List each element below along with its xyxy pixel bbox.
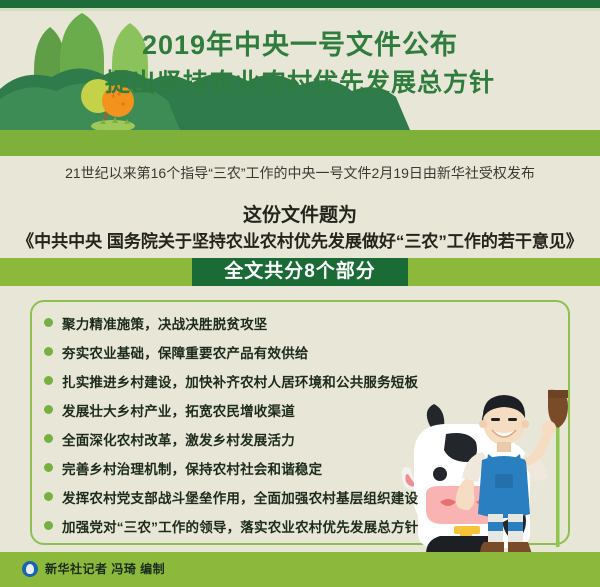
bullet-dot-icon [44,376,53,385]
bullet-dot-icon [44,463,53,472]
list-item-label: 完善乡村治理机制，保持农村社会和谐稳定 [62,458,322,478]
list-item-label: 发挥农村党支部战斗堡垒作用，全面加强农村基层组织建设 [62,487,418,507]
list-item: 扎实推进乡村建设，加快补齐农村人居环境和公共服务短板 [44,366,544,395]
page-title: 2019年中央一号文件公布 提出坚持农业农村优先发展总方针 [0,26,600,102]
bullet-dot-icon [44,492,53,501]
title-line-1: 2019年中央一号文件公布 [0,26,600,64]
list-item-label: 发展壮大乡村产业，拓宽农民增收渠道 [62,400,295,420]
subtitle-text: 21世纪以来第16个指导“三农”工作的中央一号文件2月19日由新华社受权发布 [0,163,600,183]
list-item-label: 扎实推进乡村建设，加快补齐农村人居环境和公共服务短板 [62,371,418,391]
header-green-band [0,130,600,156]
title-line-2: 提出坚持农业农村优先发展总方针 [0,64,600,102]
infographic-poster: 2019年中央一号文件公布 提出坚持农业农村优先发展总方针 21世纪以来第16个… [0,0,600,587]
list-item-label: 夯实农业基础，保障重要农产品有效供给 [62,342,309,362]
list-item: 夯实农业基础，保障重要农产品有效供给 [44,337,544,366]
bullet-dot-icon [44,347,53,356]
document-name: 《中共中央 国务院关于坚持农业农村优先发展做好“三农”工作的若干意见》 [0,229,600,255]
list-item: 发挥农村党支部战斗堡垒作用，全面加强农村基层组织建设 [44,482,544,511]
list-item-label: 聚力精准施策，决战决胜脱贫攻坚 [62,313,268,333]
bullet-list: 聚力精准施策，决战决胜脱贫攻坚 夯实农业基础，保障重要农产品有效供给 扎实推进乡… [44,308,544,540]
document-intro: 这份文件题为 [0,203,600,229]
credit-line: 新华社记者 冯琦 编制 [22,560,165,577]
list-item-label: 加强党对“三农”工作的领导，落实农业农村优先发展总方针 [62,516,418,536]
section-banner-label: 全文共分8个部分 [192,258,408,286]
credit-text: 新华社记者 冯琦 编制 [45,560,165,577]
list-item: 加强党对“三农”工作的领导，落实农业农村优先发展总方针 [44,511,544,540]
list-item-label: 全面深化农村改革，激发乡村发展活力 [62,429,295,449]
bullet-dot-icon [44,434,53,443]
bullet-dot-icon [44,318,53,327]
list-item: 发展壮大乡村产业，拓宽农民增收渠道 [44,395,544,424]
bullet-dot-icon [44,521,53,530]
xinhua-logo-icon [22,561,38,577]
document-title-block: 这份文件题为 《中共中央 国务院关于坚持农业农村优先发展做好“三农”工作的若干意… [0,203,600,255]
bullet-dot-icon [44,405,53,414]
list-item: 全面深化农村改革，激发乡村发展活力 [44,424,544,453]
list-item: 完善乡村治理机制，保持农村社会和谐稳定 [44,453,544,482]
list-item: 聚力精准施策，决战决胜脱贫攻坚 [44,308,544,337]
